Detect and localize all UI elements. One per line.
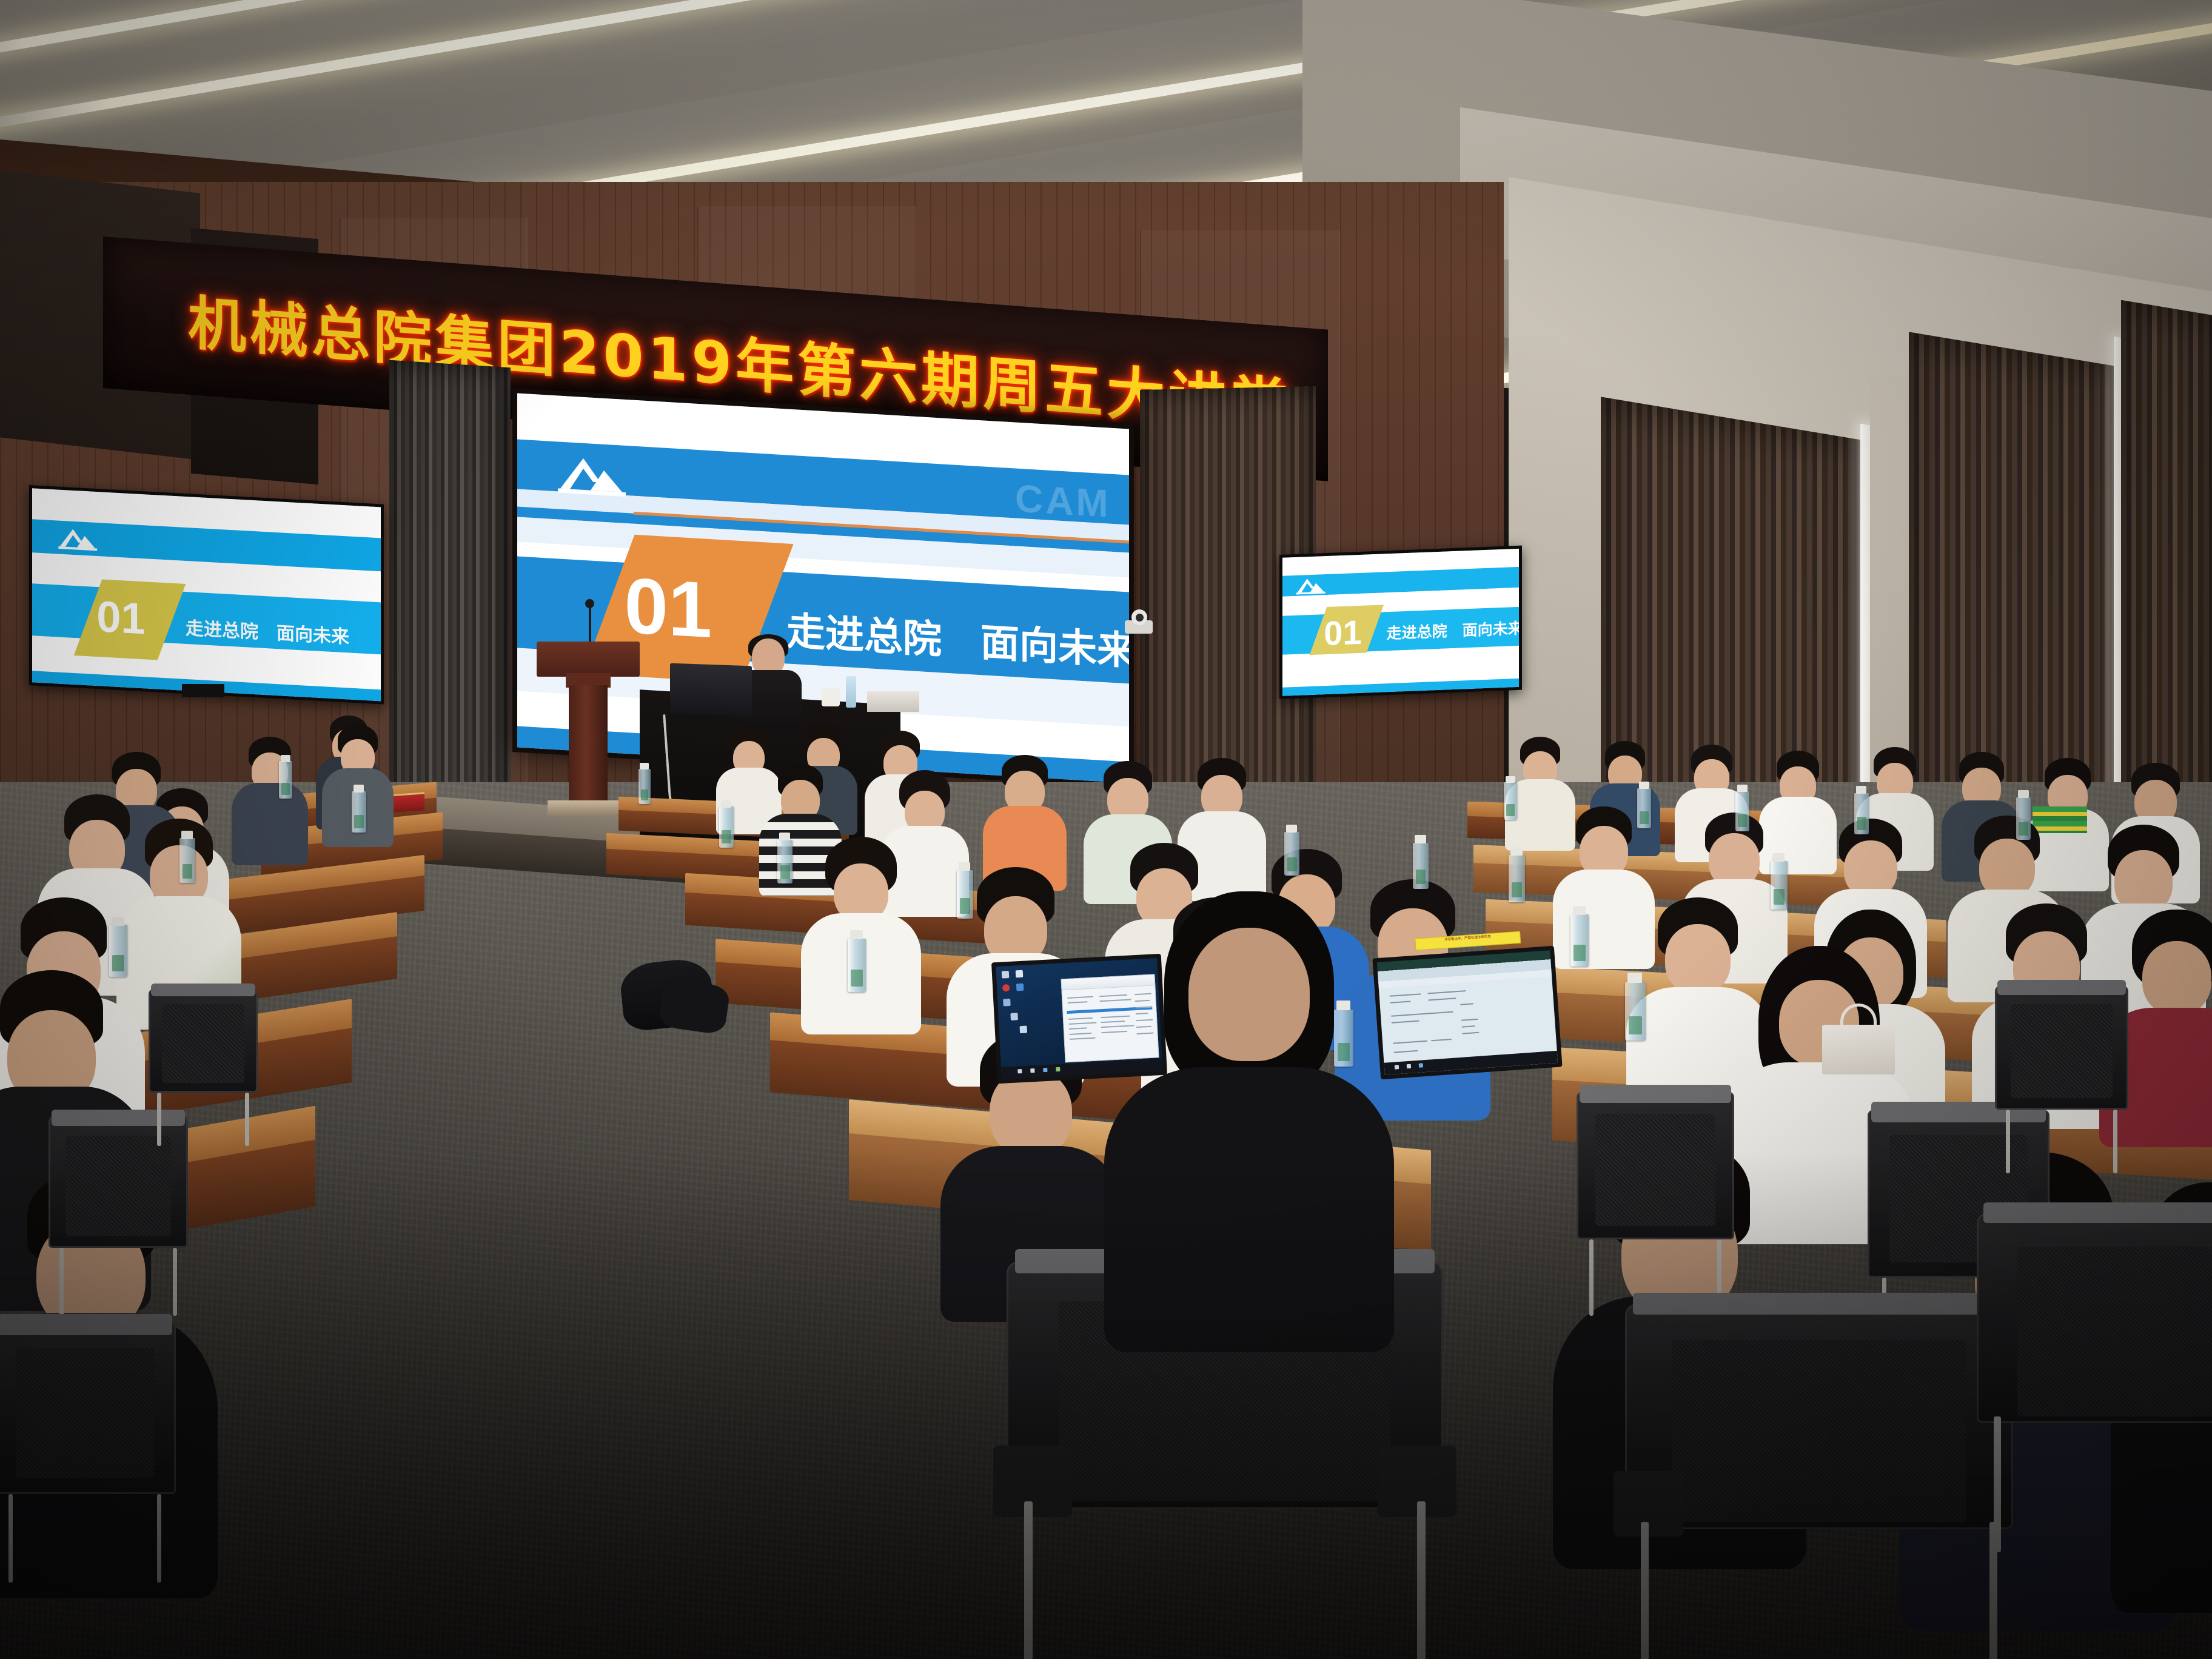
microphone-icon <box>589 604 591 644</box>
white-tote-bag <box>1822 1025 1895 1074</box>
presenter-laptop[interactable] <box>670 663 752 716</box>
side-monitor-left-stand <box>182 684 224 697</box>
bottle-cap <box>1627 973 1642 983</box>
bottle-cap <box>181 831 193 839</box>
audience-chair <box>1995 985 2128 1173</box>
bottle-cap <box>779 833 790 840</box>
water-bottle <box>1284 832 1299 876</box>
side-monitor-right: 01 走进总院 面向未来 <box>1279 546 1522 699</box>
side-monitor-left-slide: 01 走进总院 面向未来 <box>32 488 381 701</box>
ptz-camera-icon <box>1125 609 1153 634</box>
bottle-cap <box>1573 906 1586 915</box>
name-card <box>867 691 919 712</box>
water-bottle <box>352 791 366 833</box>
slide-section-number: 01 <box>625 566 712 649</box>
bottle-cap <box>1506 776 1515 783</box>
audience-chair <box>149 988 258 1146</box>
audience-chair <box>1977 1213 2212 1552</box>
side-monitor-right-slide: 01 走进总院 面向未来 <box>1282 549 1519 696</box>
water-bottle <box>846 676 856 708</box>
bottle-cap <box>2018 790 2029 798</box>
bottle-cap <box>1737 785 1748 792</box>
cam-mountain-logo-icon <box>1295 575 1329 595</box>
cam-mountain-logo-icon <box>56 525 101 551</box>
bottle-cap <box>1772 853 1785 862</box>
water-bottle <box>1637 788 1651 828</box>
water-bottle <box>777 840 793 883</box>
water-bottle <box>1771 861 1788 910</box>
microphone-capsule-icon <box>585 599 594 608</box>
audience-chair <box>1625 1304 2013 1659</box>
lectern <box>537 642 640 817</box>
stage-curtain-left <box>389 360 511 847</box>
water-bottle <box>1504 782 1517 820</box>
water-bottle <box>2016 797 2031 840</box>
water-bottle <box>957 870 973 919</box>
audience-person-foreground <box>1104 891 1395 1352</box>
water-bottle <box>1854 793 1869 834</box>
audience-person <box>982 755 1067 879</box>
bottle-cap <box>959 862 970 871</box>
audience-laptop-right[interactable]: 涉密笔记本，严禁处理涉密信息 <box>1372 946 1562 1079</box>
bottle-cap <box>281 755 290 762</box>
water-bottle <box>1413 843 1429 889</box>
cup <box>822 688 840 706</box>
lecture-hall-photo: 机械总院集团2019年第六期周五大讲堂 <box>0 0 2212 1659</box>
slide-section-number: 01 <box>1324 615 1361 651</box>
slide-section-number: 01 <box>96 595 145 641</box>
water-bottle <box>638 769 651 804</box>
bottle-cap <box>721 800 731 808</box>
audience-chair <box>0 1322 176 1583</box>
bottle-cap <box>1510 847 1523 856</box>
side-monitor-left: 01 走进总院 面向未来 <box>29 485 384 705</box>
bottle-cap <box>112 917 124 926</box>
laptop-screen[interactable] <box>1377 950 1558 1074</box>
water-bottle <box>179 838 195 883</box>
water-bottle <box>719 806 734 848</box>
bottle-cap <box>1415 835 1426 843</box>
bottle-cap <box>1856 786 1866 794</box>
water-bottle <box>848 939 866 992</box>
bottle-cap <box>354 785 364 793</box>
bottle-cap <box>850 930 863 939</box>
water-bottle <box>279 761 292 799</box>
bottle-cap <box>1286 825 1297 833</box>
bottle-cap <box>1639 782 1649 789</box>
water-bottle <box>1570 914 1589 967</box>
water-bottle <box>1509 855 1525 902</box>
cam-mountain-logo-icon <box>554 451 633 498</box>
water-bottle <box>109 925 127 977</box>
slide-watermark: CAM <box>1015 475 1111 526</box>
water-bottle <box>1735 791 1749 831</box>
water-bottle <box>1625 982 1646 1041</box>
bottle-cap <box>640 763 649 769</box>
audience-chair <box>1577 1091 1734 1316</box>
